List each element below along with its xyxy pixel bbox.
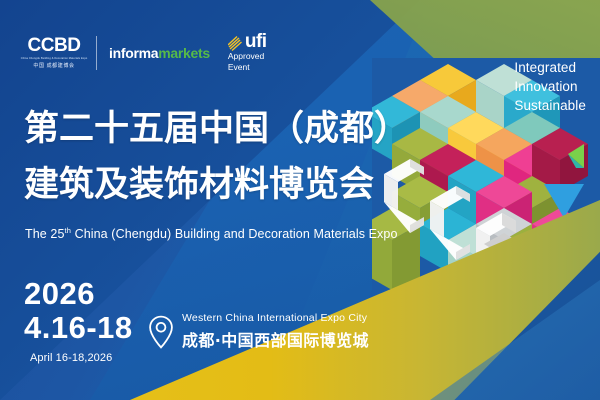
headline-english-prefix: The 25 [25,227,65,241]
date-year: 2026 [24,278,95,309]
slogan-line-1: Integrated [514,60,576,77]
slogan-line-3: Sustainable [514,98,586,115]
informa-markets-logo: informamarkets [109,46,210,60]
informa-word: informa [109,45,158,61]
expo-poster: CCBD China Chengdu Building & Decoration… [0,0,600,400]
ufi-wordmark-label: ufi [245,33,267,51]
ufi-event-label: Event [228,63,250,73]
logo-row: CCBD China Chengdu Building & Decoration… [24,33,267,73]
headline-chinese-line-1: 第二十五届中国（成都） [24,112,409,147]
date-days: 4.16-18 [24,312,133,343]
date-english: April 16-18,2026 [30,352,112,364]
location-pin-icon [148,315,174,349]
slogan-block: Integrated Innovation Sustainable [514,60,586,115]
headline-english: The 25th China (Chengdu) Building and De… [25,226,398,241]
ufi-swoosh-icon [228,35,244,51]
ccbd-english-label: China Chengdu Building & Decoration Mate… [21,57,88,60]
markets-word: markets [158,45,210,61]
ccbd-chinese-label: 中国 成都建博会 [33,62,74,69]
ccbd-logo: CCBD China Chengdu Building & Decoration… [24,36,84,69]
venue-chinese: 成都·中国西部国际博览城 [182,327,369,351]
ccbd-wordmark-label: CCBD [28,36,81,55]
logo-divider [96,36,97,70]
ufi-approved-event-logo: ufi Approved Event [228,33,267,73]
headline-chinese-line-2: 建筑及装饰材料博览会 [24,168,374,203]
venue-block: Western China International Expo City 成都… [148,312,369,351]
ufi-approved-label: Approved [228,52,264,62]
headline-english-rest: China (Chengdu) Building and Decoration … [71,227,398,241]
venue-english: Western China International Expo City [182,312,369,324]
slogan-line-2: Innovation [514,79,577,96]
